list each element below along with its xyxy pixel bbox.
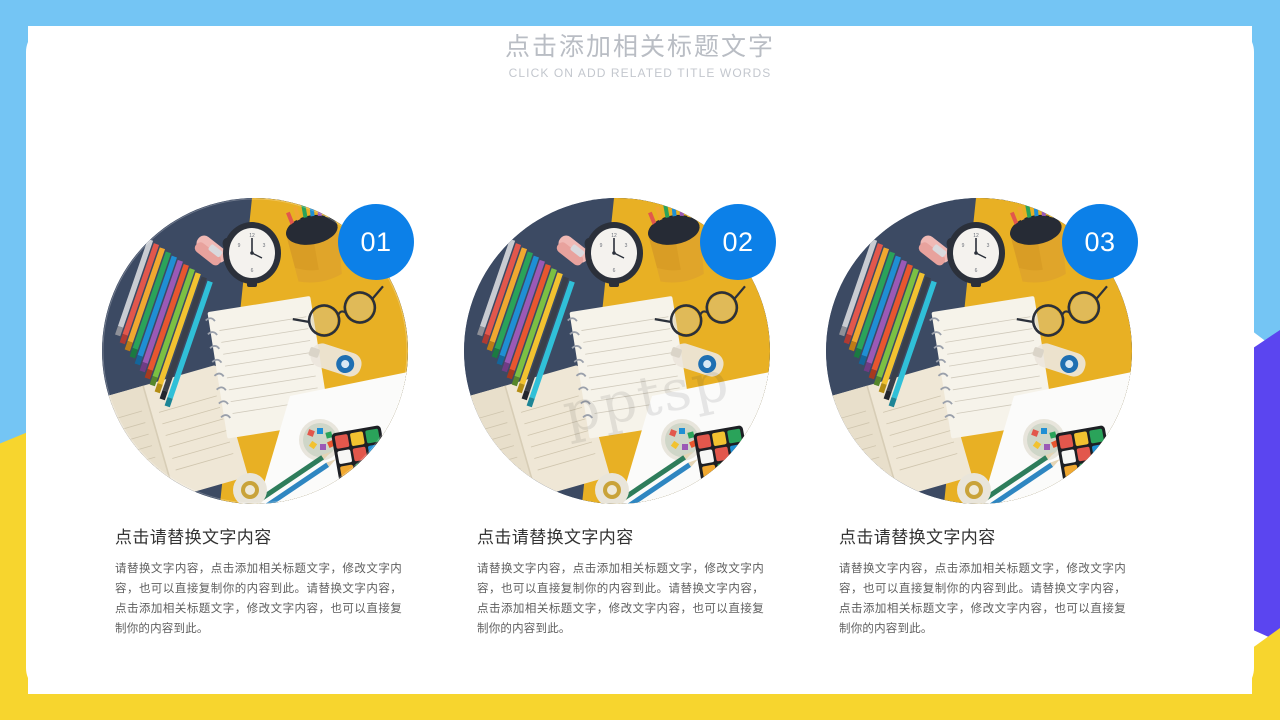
content-column: 123 69 — [102, 198, 408, 639]
column-heading: 点击请替换文字内容 — [477, 526, 764, 550]
step-number-badge[interactable]: 02 — [700, 204, 776, 280]
svg-text:3: 3 — [987, 243, 990, 249]
column-body-text: 请替换文字内容，点击添加相关标题文字，修改文字内容，也可以直接复制你的内容到此。… — [477, 559, 764, 639]
content-column: 123 69 — [464, 198, 770, 639]
column-heading: 点击请替换文字内容 — [839, 526, 1126, 550]
right-blue-band — [1252, 0, 1280, 352]
svg-text:6: 6 — [251, 268, 254, 274]
bottom-yellow-band — [0, 694, 1280, 720]
content-card: 点击添加相关标题文字 CLICK ON ADD RELATED TITLE WO… — [26, 26, 1254, 694]
svg-text:3: 3 — [625, 243, 628, 249]
svg-text:6: 6 — [975, 268, 978, 274]
left-blue-band — [0, 0, 28, 452]
svg-text:3: 3 — [263, 243, 266, 249]
svg-text:12: 12 — [973, 233, 979, 239]
photo-wrapper: 123 69 — [102, 198, 408, 504]
columns-container: 123 69 — [26, 198, 1254, 639]
column-heading: 点击请替换文字内容 — [115, 526, 402, 550]
svg-text:9: 9 — [600, 243, 603, 249]
right-purple-band — [1252, 330, 1280, 642]
page-subtitle: CLICK ON ADD RELATED TITLE WORDS — [26, 64, 1254, 82]
svg-text:12: 12 — [249, 233, 255, 239]
top-blue-band — [0, 0, 1280, 26]
step-number-badge[interactable]: 03 — [1062, 204, 1138, 280]
column-text-block: 点击请替换文字内容 请替换文字内容，点击添加相关标题文字，修改文字内容，也可以直… — [464, 526, 770, 639]
content-column: 123 69 — [826, 198, 1132, 639]
column-body-text: 请替换文字内容，点击添加相关标题文字，修改文字内容，也可以直接复制你的内容到此。… — [115, 559, 402, 639]
slide-root: 点击添加相关标题文字 CLICK ON ADD RELATED TITLE WO… — [0, 0, 1280, 720]
column-text-block: 点击请替换文字内容 请替换文字内容，点击添加相关标题文字，修改文字内容，也可以直… — [102, 526, 408, 639]
column-text-block: 点击请替换文字内容 请替换文字内容，点击添加相关标题文字，修改文字内容，也可以直… — [826, 526, 1132, 639]
photo-wrapper: 123 69 — [464, 198, 770, 504]
column-body-text: 请替换文字内容，点击添加相关标题文字，修改文字内容，也可以直接复制你的内容到此。… — [839, 559, 1126, 639]
photo-wrapper: 123 69 — [826, 198, 1132, 504]
svg-text:9: 9 — [962, 243, 965, 249]
page-title: 点击添加相关标题文字 — [26, 30, 1254, 64]
slide-header: 点击添加相关标题文字 CLICK ON ADD RELATED TITLE WO… — [26, 30, 1254, 82]
svg-text:12: 12 — [611, 233, 617, 239]
svg-text:6: 6 — [613, 268, 616, 274]
step-number-badge[interactable]: 01 — [338, 204, 414, 280]
svg-text:9: 9 — [238, 243, 241, 249]
left-yellow-band — [0, 432, 28, 720]
